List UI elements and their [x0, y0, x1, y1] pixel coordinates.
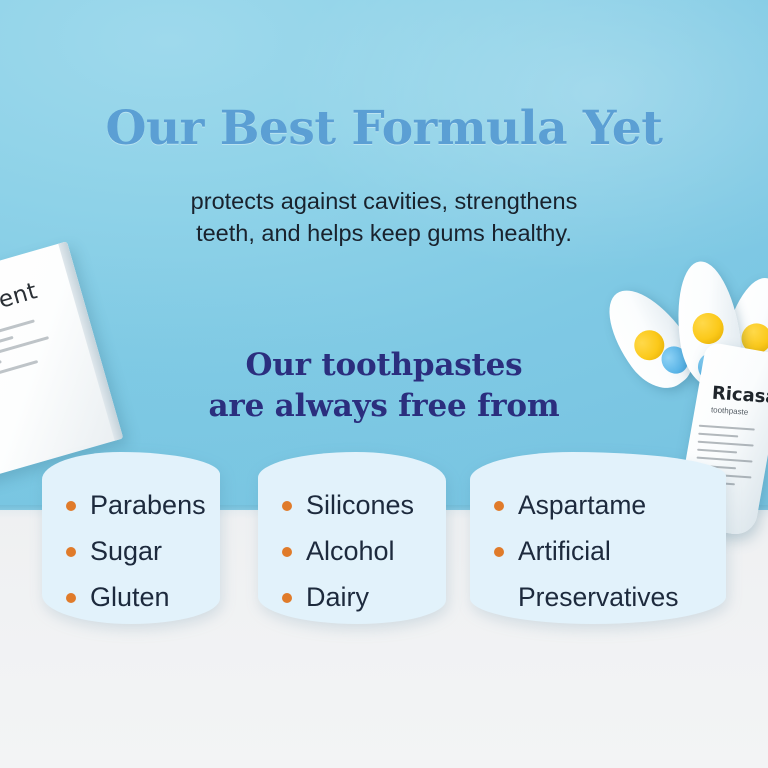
free-from-card: Parabens Sugar Gluten: [42, 452, 220, 624]
subheadline: protects against cavities, strengthens t…: [0, 185, 768, 249]
list-item: Gluten: [64, 574, 208, 620]
page-title: Our Best Formula Yet: [0, 101, 768, 156]
free-from-card-group: Parabens Sugar Gluten Silicones Alcohol …: [0, 452, 768, 652]
list-item-continuation: Preservatives: [492, 574, 714, 620]
free-from-list: Aspartame Artificial Preservatives: [492, 482, 714, 620]
list-item: Artificial: [492, 528, 714, 574]
section-title-line-2: are always free from: [0, 386, 768, 427]
list-item: Silicones: [280, 482, 434, 528]
list-item: Parabens: [64, 482, 208, 528]
section-title-line-1: Our toothpastes: [0, 345, 768, 386]
free-from-card: Silicones Alcohol Dairy: [258, 452, 446, 624]
section-title: Our toothpastes are always free from: [0, 345, 768, 427]
list-item: Aspartame: [492, 482, 714, 528]
list-item: Sugar: [64, 528, 208, 574]
list-item: Dairy: [280, 574, 434, 620]
free-from-list: Silicones Alcohol Dairy: [280, 482, 434, 620]
cap-yellow-dot-icon: [691, 311, 726, 346]
list-item: Alcohol: [280, 528, 434, 574]
free-from-card: Aspartame Artificial Preservatives: [470, 452, 726, 624]
subheadline-line-2: teeth, and helps keep gums healthy.: [0, 217, 768, 249]
subheadline-line-1: protects against cavities, strengthens: [0, 185, 768, 217]
poster-canvas: d thient Ricasa toothpaste Our Best Form…: [0, 0, 768, 768]
free-from-list: Parabens Sugar Gluten: [64, 482, 208, 620]
